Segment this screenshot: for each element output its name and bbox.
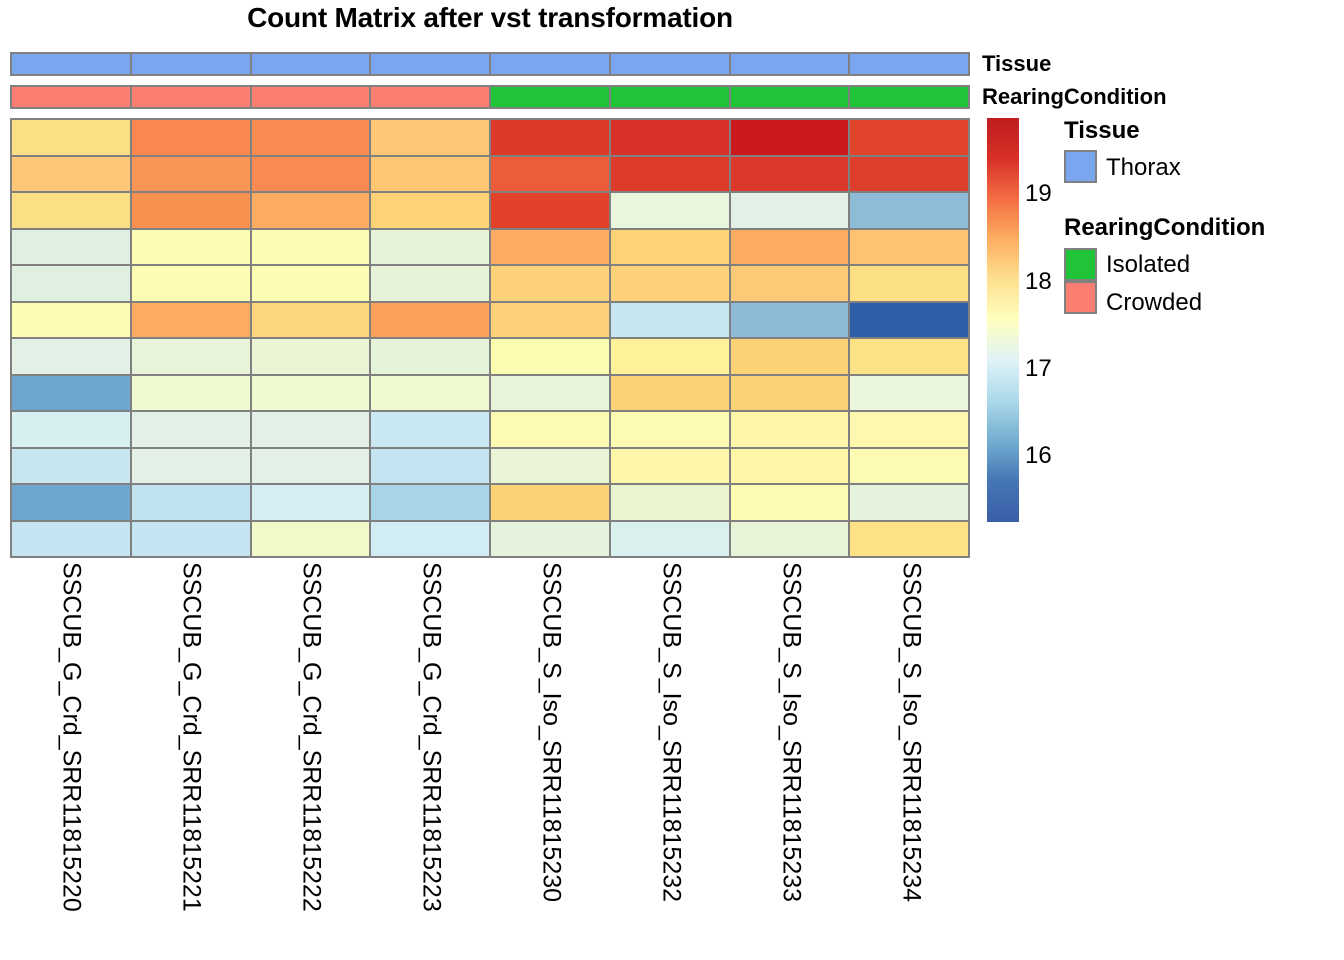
annotation-tissue-cell (491, 54, 611, 74)
heatmap-cell (12, 193, 132, 228)
x-axis-label-slot: SSCUB_S_Iso_SRR11815230 (490, 560, 610, 958)
legend-label-crowded: Crowded (1106, 289, 1202, 317)
heatmap-grid (10, 118, 970, 558)
x-axis-labels: SSCUB_G_Crd_SRR11815220SSCUB_G_Crd_SRR11… (10, 560, 970, 958)
heatmap-cell (132, 230, 252, 265)
heatmap-cell (850, 522, 968, 557)
heatmap-cell (132, 412, 252, 447)
heatmap-cell (611, 376, 731, 411)
heatmap-cell (731, 266, 851, 301)
heatmap-cell (252, 157, 372, 192)
annotation-tissue-cell (371, 54, 491, 74)
annotation-rearing-cell (252, 87, 372, 107)
heatmap-row (12, 266, 968, 303)
annotation-rearing-cell (731, 87, 851, 107)
annotation-tissue-cell (12, 54, 132, 74)
heatmap-cell (850, 412, 968, 447)
heatmap-cell (371, 485, 491, 520)
heatmap-cell (132, 376, 252, 411)
heatmap-cell (12, 339, 132, 374)
legend-title-tissue: Tissue (1064, 117, 1140, 145)
heatmap-row (12, 339, 968, 376)
annotation-rearing-cell (491, 87, 611, 107)
heatmap-cell (371, 449, 491, 484)
heatmap-cell (611, 449, 731, 484)
heatmap-cell (611, 485, 731, 520)
legend-label-thorax: Thorax (1106, 154, 1181, 182)
legend-key-isolated (1064, 248, 1097, 281)
legend-label-isolated: Isolated (1106, 251, 1190, 279)
heatmap-cell (611, 522, 731, 557)
heatmap-cell (850, 339, 968, 374)
heatmap-cell (12, 522, 132, 557)
heatmap-cell (491, 157, 611, 192)
x-axis-label-slot: SSCUB_S_Iso_SRR11815233 (730, 560, 850, 958)
heatmap-cell (371, 412, 491, 447)
heatmap-cell (132, 120, 252, 155)
colorbar-tick-label: 19 (1025, 180, 1052, 208)
heatmap-cell (850, 449, 968, 484)
heatmap-cell (252, 303, 372, 338)
heatmap-cell (491, 193, 611, 228)
heatmap-cell (850, 157, 968, 192)
heatmap-cell (731, 120, 851, 155)
heatmap-cell (371, 157, 491, 192)
heatmap-cell (132, 157, 252, 192)
annotation-tissue-cell (252, 54, 372, 74)
heatmap-cell (850, 303, 968, 338)
heatmap-cell (491, 230, 611, 265)
colorbar-tick-label: 17 (1025, 355, 1052, 383)
annotation-tissue-cell (850, 54, 968, 74)
heatmap-cell (371, 376, 491, 411)
heatmap-cell (850, 485, 968, 520)
x-axis-label-slot: SSCUB_G_Crd_SRR11815223 (370, 560, 490, 958)
heatmap-cell (491, 485, 611, 520)
colorbar-gradient (987, 118, 1019, 522)
heatmap-cell (611, 412, 731, 447)
heatmap-cell (371, 303, 491, 338)
x-axis-label-slot: SSCUB_S_Iso_SRR11815234 (850, 560, 970, 958)
annotation-tissue-cell (132, 54, 252, 74)
legend-key-crowded (1064, 281, 1097, 314)
heatmap-cell (252, 449, 372, 484)
heatmap-cell (132, 485, 252, 520)
heatmap-cell (12, 266, 132, 301)
heatmap-cell (731, 449, 851, 484)
colorbar-tick-label: 18 (1025, 268, 1052, 296)
heatmap-row (12, 120, 968, 157)
annotation-rearing-cell (371, 87, 491, 107)
heatmap-row (12, 412, 968, 449)
heatmap-cell (731, 339, 851, 374)
heatmap-cell (132, 266, 252, 301)
heatmap-cell (132, 449, 252, 484)
heatmap-cell (491, 303, 611, 338)
annotation-bar-tissue (10, 52, 970, 76)
heatmap-cell (252, 412, 372, 447)
heatmap-cell (850, 376, 968, 411)
heatmap-cell (132, 303, 252, 338)
heatmap-cell (850, 193, 968, 228)
heatmap-cell (12, 449, 132, 484)
x-axis-label-slot: SSCUB_G_Crd_SRR11815220 (10, 560, 130, 958)
heatmap-cell (731, 157, 851, 192)
heatmap-cell (491, 449, 611, 484)
legend-title-rearing-condition: RearingCondition (1064, 214, 1265, 242)
x-axis-label: SSCUB_G_Crd_SRR11815222 (297, 562, 326, 912)
legend-key-thorax (1064, 150, 1097, 183)
x-axis-label: SSCUB_S_Iso_SRR11815233 (777, 562, 806, 902)
annotation-rearing-cell (850, 87, 968, 107)
annotation-label-tissue: Tissue (982, 51, 1051, 77)
heatmap-cell (731, 412, 851, 447)
heatmap-row (12, 449, 968, 486)
annotation-tissue-cell (611, 54, 731, 74)
heatmap-cell (731, 522, 851, 557)
heatmap-row (12, 230, 968, 267)
heatmap-cell (731, 230, 851, 265)
heatmap-cell (611, 193, 731, 228)
x-axis-label-slot: SSCUB_G_Crd_SRR11815221 (130, 560, 250, 958)
heatmap-row (12, 303, 968, 340)
heatmap-cell (12, 303, 132, 338)
x-axis-label-slot: SSCUB_S_Iso_SRR11815232 (610, 560, 730, 958)
heatmap-cell (491, 376, 611, 411)
heatmap-cell (132, 522, 252, 557)
annotation-rearing-cell (132, 87, 252, 107)
heatmap-cell (611, 339, 731, 374)
heatmap-cell (850, 230, 968, 265)
heatmap-cell (371, 193, 491, 228)
heatmap-row (12, 376, 968, 413)
heatmap-cell (850, 120, 968, 155)
annotation-rearing-cell (611, 87, 731, 107)
heatmap-cell (252, 339, 372, 374)
annotation-tissue-cell (731, 54, 851, 74)
heatmap-cell (252, 485, 372, 520)
x-axis-label: SSCUB_S_Iso_SRR11815232 (657, 562, 686, 902)
colorbar-tick-label: 16 (1025, 442, 1052, 470)
heatmap-cell (731, 303, 851, 338)
heatmap-cell (252, 266, 372, 301)
heatmap-cell (12, 376, 132, 411)
heatmap-cell (491, 339, 611, 374)
x-axis-label: SSCUB_S_Iso_SRR11815230 (537, 562, 566, 902)
heatmap-cell (491, 522, 611, 557)
heatmap-cell (12, 485, 132, 520)
heatmap-cell (611, 266, 731, 301)
x-axis-label-slot: SSCUB_G_Crd_SRR11815222 (250, 560, 370, 958)
heatmap-cell (132, 193, 252, 228)
heatmap-row (12, 485, 968, 522)
heatmap-cell (371, 522, 491, 557)
heatmap-cell (371, 266, 491, 301)
heatmap-cell (12, 230, 132, 265)
page-title: Count Matrix after vst transformation (0, 2, 980, 34)
heatmap-cell (611, 157, 731, 192)
heatmap-row (12, 157, 968, 194)
heatmap-cell (371, 120, 491, 155)
heatmap-cell (731, 485, 851, 520)
heatmap-cell (12, 157, 132, 192)
heatmap-cell (252, 230, 372, 265)
heatmap-cell (252, 376, 372, 411)
heatmap-cell (132, 339, 252, 374)
heatmap-cell (252, 120, 372, 155)
colorbar (987, 118, 1019, 522)
heatmap-cell (731, 376, 851, 411)
heatmap-cell (491, 266, 611, 301)
heatmap-cell (611, 120, 731, 155)
heatmap-cell (611, 230, 731, 265)
heatmap-cell (371, 339, 491, 374)
heatmap-row (12, 522, 968, 557)
annotation-rearing-cell (12, 87, 132, 107)
heatmap-row (12, 193, 968, 230)
heatmap-cell (491, 120, 611, 155)
heatmap-cell (731, 193, 851, 228)
x-axis-label: SSCUB_G_Crd_SRR11815221 (177, 562, 206, 912)
x-axis-label: SSCUB_G_Crd_SRR11815220 (57, 562, 86, 912)
annotation-label-rearing-condition: RearingCondition (982, 84, 1167, 110)
x-axis-label: SSCUB_G_Crd_SRR11815223 (417, 562, 446, 912)
heatmap-cell (371, 230, 491, 265)
heatmap-cell (252, 193, 372, 228)
x-axis-label: SSCUB_S_Iso_SRR11815234 (897, 562, 926, 902)
annotation-bar-rearing-condition (10, 85, 970, 109)
heatmap-cell (611, 303, 731, 338)
heatmap-cell (12, 412, 132, 447)
heatmap-cell (850, 266, 968, 301)
heatmap-cell (252, 522, 372, 557)
heatmap-cell (12, 120, 132, 155)
heatmap-cell (491, 412, 611, 447)
